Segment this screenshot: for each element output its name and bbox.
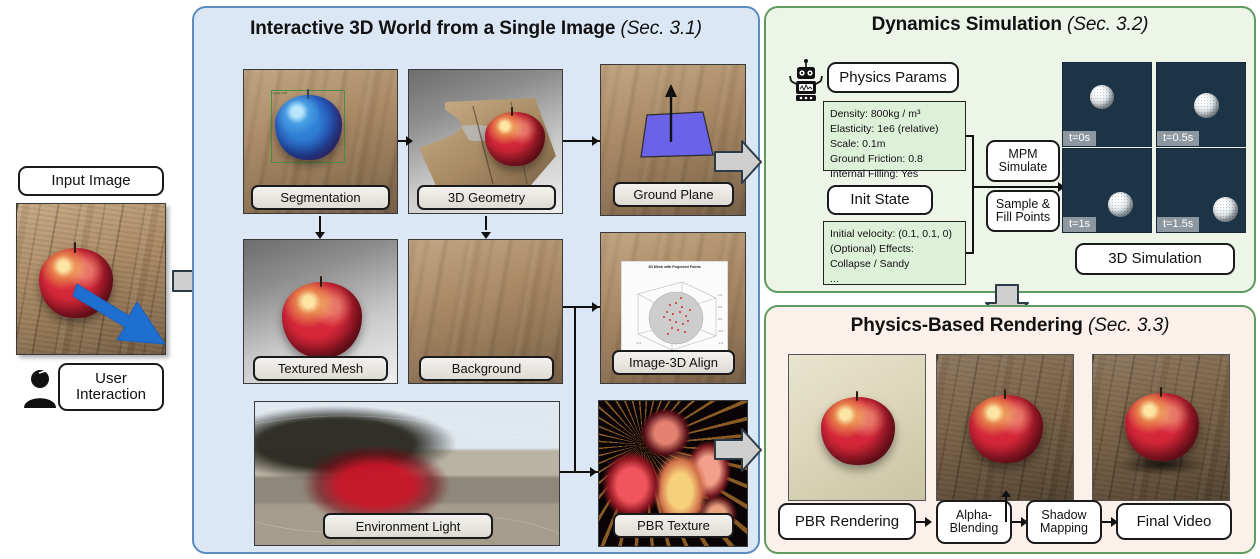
segmentation-apple-mask: [275, 95, 342, 160]
arrowhead-seg-to-geometry: [406, 136, 413, 146]
step-shadow-mapping-line-2: Mapping: [1040, 522, 1088, 535]
geometry-apple: [485, 112, 545, 166]
svg-text:0.5: 0.5: [718, 305, 723, 309]
arrow-interactive-to-dynamics: [714, 140, 762, 184]
dynamics-panel-section: (Sec. 3.2): [1067, 14, 1148, 35]
caption-image-3d-align: Image-3D Align: [612, 350, 735, 375]
caption-background: Background: [419, 356, 554, 381]
geometry-apple-stem: [511, 107, 513, 116]
sim-frame-1[interactable]: t=0.5s: [1156, 62, 1246, 147]
step-pbr-rendering-label: PBR Rendering: [795, 514, 899, 530]
align-plot-card: 3D Mesh with Projected Points 1.00.50.0: [621, 261, 728, 361]
textured-mesh-apple-stem: [320, 276, 322, 287]
physics-params-box: Density: 800kg / m³ Elasticity: 1e6 (rel…: [823, 101, 966, 171]
caption-3d-geometry: 3D Geometry: [417, 185, 556, 210]
arrowhead-geom-down: [481, 232, 491, 239]
mpm-simulate-line-2: Simulate: [999, 161, 1048, 174]
arrowhead-geom-to-ground: [592, 136, 599, 146]
sim-frame-2-time-label: t=1s: [1063, 217, 1096, 232]
connector-init-right: [966, 252, 974, 254]
arrowhead-frame-to-blend: [1001, 490, 1011, 497]
caption-segmentation: Segmentation: [251, 185, 390, 210]
caption-background-text: Background: [452, 361, 521, 376]
physics-param-density: Density: 800kg / m³: [830, 107, 959, 122]
render-frame-blend-apple: [969, 395, 1043, 463]
sim-frame-1-time-label: t=0.5s: [1157, 131, 1199, 146]
svg-text:-0.5: -0.5: [718, 329, 723, 333]
textured-mesh-apple: [282, 282, 362, 358]
sim-frame-0-time-label: t=0s: [1063, 131, 1096, 146]
caption-environment-light-text: Environment Light: [356, 519, 461, 534]
arrowhead-mesh-to-align: [592, 302, 599, 312]
segmentation-apple-stem: [307, 89, 309, 99]
arrowhead-env-to-pbr: [590, 467, 597, 477]
user-interaction-label-text: User Interaction: [60, 371, 162, 403]
user-avatar-icon: [22, 368, 58, 408]
ground-plane-normal-arrow-icon: [663, 84, 679, 144]
caption-pbr-texture: PBR Texture: [613, 513, 734, 538]
step-final-video[interactable]: Final Video: [1116, 503, 1232, 540]
render-frame-pbr[interactable]: [788, 354, 926, 501]
step-alpha-blending-line-2: Blending: [950, 522, 999, 535]
physics-param-scale: Scale: 0.1m: [830, 137, 959, 152]
step-pbr-rendering[interactable]: PBR Rendering: [778, 503, 916, 540]
sample-fill-points-button[interactable]: Sample & Fill Points: [986, 190, 1060, 232]
caption-ground-plane-text: Ground Plane: [633, 187, 713, 202]
render-frame-blend[interactable]: [936, 354, 1074, 501]
sample-fill-line-2: Fill Points: [996, 211, 1050, 224]
sim-frame-3[interactable]: t=1.5s: [1156, 148, 1246, 233]
svg-text:0.0: 0.0: [718, 317, 723, 321]
sim-frame-2-particles: [1108, 192, 1133, 217]
caption-ground-plane: Ground Plane: [613, 182, 734, 207]
render-frame-pbr-apple: [821, 397, 895, 465]
connector-env-light-h: [560, 471, 576, 473]
user-interaction-label: User Interaction: [58, 363, 164, 411]
render-frame-blend-stem: [1004, 389, 1006, 399]
sim-frame-1-particles: [1194, 93, 1219, 118]
caption-segmentation-text: Segmentation: [280, 190, 360, 205]
caption-textured-mesh: Textured Mesh: [253, 356, 388, 381]
align-plot-title: 3D Mesh with Projected Points: [622, 265, 727, 269]
connector-frame-to-blend-v: [1005, 496, 1007, 522]
caption-3d-geometry-text: 3D Geometry: [448, 190, 525, 205]
segmentation-bbox-label: apple 0.98: [273, 91, 287, 95]
init-state-label: Init State: [850, 192, 909, 208]
interactive-panel-title: Interactive 3D World from a Single Image…: [192, 18, 760, 40]
interactive-panel-title-text: Interactive 3D World from a Single Image: [250, 18, 615, 39]
connector-ops-to-frames: [972, 186, 1064, 188]
init-state-box: Initial velocity: (0.1, 0.1, 0) (Optiona…: [823, 221, 966, 285]
render-frame-final[interactable]: [1092, 354, 1230, 501]
connector-brace-vertical: [972, 135, 974, 253]
caption-pbr-texture-text: PBR Texture: [637, 518, 710, 533]
robot-icon: [789, 59, 823, 103]
sim-frame-2[interactable]: t=1s: [1062, 148, 1152, 233]
3d-simulation-result-label: 3D Simulation: [1075, 243, 1235, 275]
caption-textured-mesh-text: Textured Mesh: [278, 361, 363, 376]
physics-params-button[interactable]: Physics Params: [827, 62, 959, 93]
physics-param-elasticity: Elasticity: 1e6 (relative): [830, 122, 959, 137]
arrowhead-seg-down: [315, 232, 325, 239]
render-frame-final-stem: [1160, 387, 1162, 397]
sim-frame-0-particles: [1090, 85, 1114, 109]
mpm-simulate-button[interactable]: MPM Simulate: [986, 140, 1060, 182]
connector-geom-h: [485, 228, 487, 230]
arrowhead-step1-to-step2: [925, 517, 932, 527]
3d-simulation-result-text: 3D Simulation: [1108, 251, 1201, 267]
step-shadow-mapping[interactable]: Shadow Mapping: [1026, 500, 1102, 544]
dynamics-panel-title-text: Dynamics Simulation: [872, 14, 1062, 35]
step-final-video-label: Final Video: [1137, 514, 1212, 530]
init-state-velocity: Initial velocity: (0.1, 0.1, 0): [830, 227, 959, 242]
sim-frame-3-time-label: t=1.5s: [1157, 217, 1199, 232]
step-alpha-blending[interactable]: Alpha- Blending: [936, 500, 1012, 544]
connector-geom-down-v: [485, 216, 487, 228]
caption-image-3d-align-text: Image-3D Align: [629, 355, 718, 370]
svg-text:-1.0: -1.0: [718, 341, 723, 345]
input-image-label: Input Image: [18, 166, 164, 196]
sim-frame-0[interactable]: t=0s: [1062, 62, 1152, 147]
init-state-button[interactable]: Init State: [827, 185, 933, 215]
sim-frame-3-particles: [1213, 197, 1238, 222]
render-frame-final-apple: [1125, 393, 1199, 461]
interactive-panel-section: (Sec. 3.1): [621, 18, 702, 39]
arrow-interactive-to-rendering: [714, 428, 762, 472]
physics-param-internal-filling: Internal Filling: Yes: [830, 167, 959, 182]
user-drag-arrow-icon: [73, 274, 166, 352]
init-state-effects: (Optional) Effects:: [830, 242, 959, 257]
render-frame-pbr-stem: [856, 391, 858, 401]
connector-mesh-to-pbr-v: [574, 306, 576, 472]
rendering-panel-title: Physics-Based Rendering (Sec. 3.3): [764, 315, 1256, 337]
dynamics-panel-title: Dynamics Simulation (Sec. 3.2): [764, 14, 1256, 36]
physics-params-label: Physics Params: [839, 70, 947, 86]
physics-param-ground-friction: Ground Friction: 0.8: [830, 152, 959, 167]
rendering-panel-section: (Sec. 3.3): [1088, 315, 1169, 336]
svg-text:-1.0: -1.0: [636, 341, 642, 345]
init-state-ellipsis: ...: [830, 272, 959, 287]
input-image-thumbnail[interactable]: [16, 203, 166, 355]
svg-text:1.0: 1.0: [718, 293, 723, 297]
input-image-apple-stem: [74, 242, 76, 253]
caption-environment-light: Environment Light: [323, 513, 493, 539]
rendering-panel-title-text: Physics-Based Rendering: [851, 315, 1083, 336]
align-plot-3d-axes: 1.00.50.0 -0.5-1.0 -1.0-0.50.0: [626, 272, 723, 358]
init-state-effects-values: Collapse / Sandy: [830, 257, 959, 272]
